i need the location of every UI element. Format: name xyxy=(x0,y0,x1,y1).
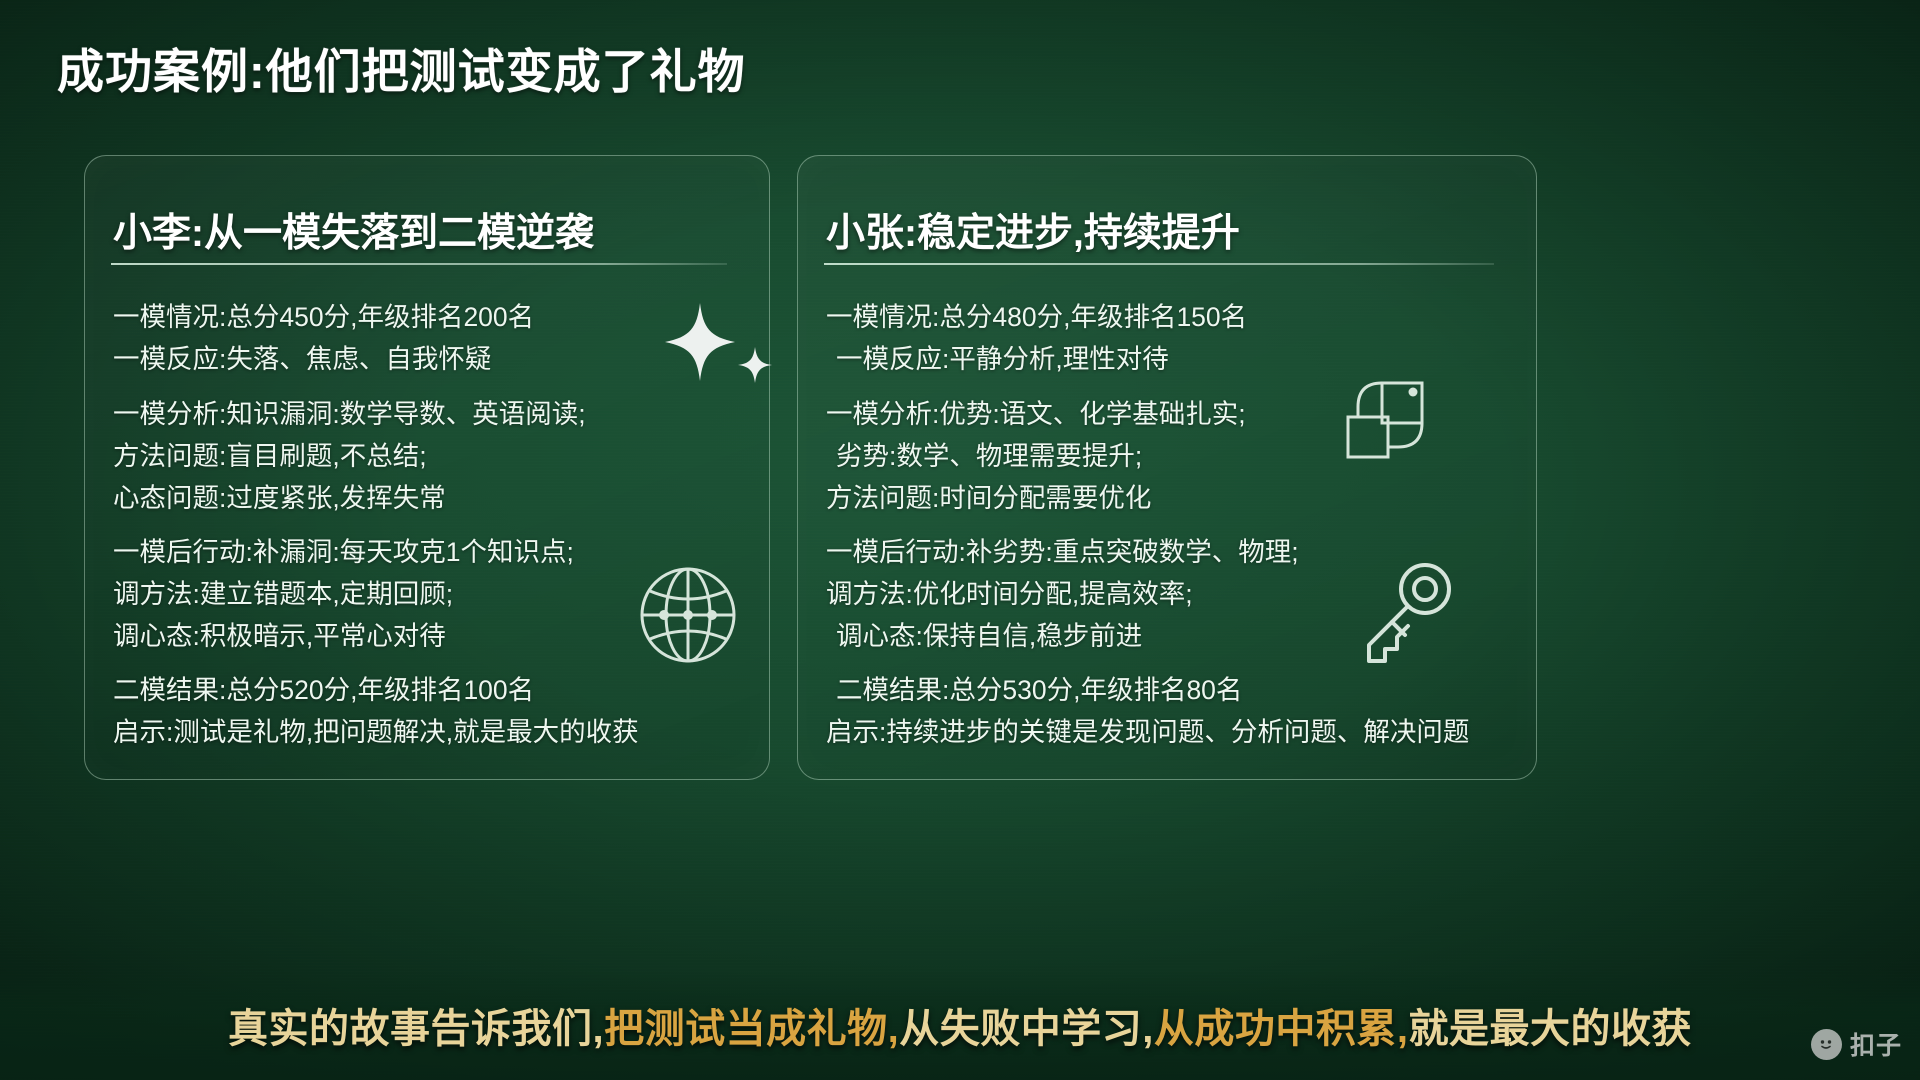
banner-segment: 真实的故事告诉我们, xyxy=(228,1007,604,1051)
card-block-analysis: 一模分析:优势:语文、化学基础扎实; 劣势:数学、物理需要提升; 方法问题:时间… xyxy=(826,393,1520,519)
card-line: 一模反应:失落、焦虑、自我怀疑 xyxy=(113,338,753,380)
card-line: 二模结果:总分530分,年级排名80名 xyxy=(826,669,1520,711)
card-title-divider xyxy=(824,263,1494,265)
card-block-result: 二模结果:总分530分,年级排名80名 启示:持续进步的关键是发现问题、分析问题… xyxy=(826,669,1520,753)
card-line: 一模分析:优势:语文、化学基础扎实; xyxy=(826,393,1520,435)
banner-segment: 从成功中积累, xyxy=(1154,1007,1409,1051)
case-card-xiaozhang: 小张:稳定进步,持续提升 一模情况:总分480分,年级排名150名 一模反应:平… xyxy=(797,155,1537,780)
card-line: 方法问题:盲目刷题,不总结; xyxy=(113,435,753,477)
card-block-action: 一模后行动:补劣势:重点突破数学、物理; 调方法:优化时间分配,提高效率; 调心… xyxy=(826,531,1520,657)
banner-text: 真实的故事告诉我们,把测试当成礼物,从失败中学习,从成功中积累,就是最大的收获 xyxy=(228,996,1692,1054)
card-title-divider xyxy=(111,263,727,265)
card-line: 调心态:保持自信,稳步前进 xyxy=(826,615,1520,657)
card-block-situation: 一模情况:总分450分,年级排名200名 一模反应:失落、焦虑、自我怀疑 xyxy=(113,296,753,380)
card-line: 劣势:数学、物理需要提升; xyxy=(826,435,1520,477)
watermark-label: 扣子 xyxy=(1850,1026,1902,1062)
card-line: 一模反应:平静分析,理性对待 xyxy=(826,338,1520,380)
card-line: 调方法:优化时间分配,提高效率; xyxy=(826,573,1520,615)
card-line: 一模情况:总分450分,年级排名200名 xyxy=(113,296,753,338)
banner-segment: 从失败中学习, xyxy=(899,1007,1154,1051)
card-line: 一模情况:总分480分,年级排名150名 xyxy=(826,296,1520,338)
banner-segment: 就是最大的收获 xyxy=(1409,1007,1693,1051)
case-card-xiaoli: 小李:从一模失落到二模逆袭 一模情况:总分450分,年级排名200名 一模反应:… xyxy=(84,155,770,780)
card-line: 启示:持续进步的关键是发现问题、分析问题、解决问题 xyxy=(826,711,1520,753)
card-title-xiaoli: 小李:从一模失落到二模逆袭 xyxy=(113,202,769,258)
banner-segment: 把测试当成礼物, xyxy=(604,1007,899,1051)
card-block-situation: 一模情况:总分480分,年级排名150名 一模反应:平静分析,理性对待 xyxy=(826,296,1520,380)
card-line: 一模后行动:补漏洞:每天攻克1个知识点; xyxy=(113,531,753,573)
card-block-result: 二模结果:总分520分,年级排名100名 启示:测试是礼物,把问题解决,就是最大… xyxy=(113,669,753,753)
card-line: 调方法:建立错题本,定期回顾; xyxy=(113,573,753,615)
watermark: 扣子 xyxy=(1811,1026,1902,1062)
card-block-analysis: 一模分析:知识漏洞:数学导数、英语阅读; 方法问题:盲目刷题,不总结; 心态问题… xyxy=(113,393,753,519)
card-title-xiaozhang: 小张:稳定进步,持续提升 xyxy=(826,202,1536,258)
card-line: 调心态:积极暗示,平常心对待 xyxy=(113,615,753,657)
card-line: 心态问题:过度紧张,发挥失常 xyxy=(113,477,753,519)
card-line: 一模分析:知识漏洞:数学导数、英语阅读; xyxy=(113,393,753,435)
card-line: 方法问题:时间分配需要优化 xyxy=(826,477,1520,519)
page-title: 成功案例:他们把测试变成了礼物 xyxy=(57,33,746,102)
card-block-action: 一模后行动:补漏洞:每天攻克1个知识点; 调方法:建立错题本,定期回顾; 调心态… xyxy=(113,531,753,657)
smiley-icon xyxy=(1816,1034,1836,1054)
card-line: 二模结果:总分520分,年级排名100名 xyxy=(113,669,753,711)
watermark-logo-icon xyxy=(1811,1029,1842,1060)
bottom-banner: 真实的故事告诉我们,把测试当成礼物,从失败中学习,从成功中积累,就是最大的收获 … xyxy=(0,970,1920,1080)
card-line: 启示:测试是礼物,把问题解决,就是最大的收获 xyxy=(113,711,753,753)
card-line: 一模后行动:补劣势:重点突破数学、物理; xyxy=(826,531,1520,573)
